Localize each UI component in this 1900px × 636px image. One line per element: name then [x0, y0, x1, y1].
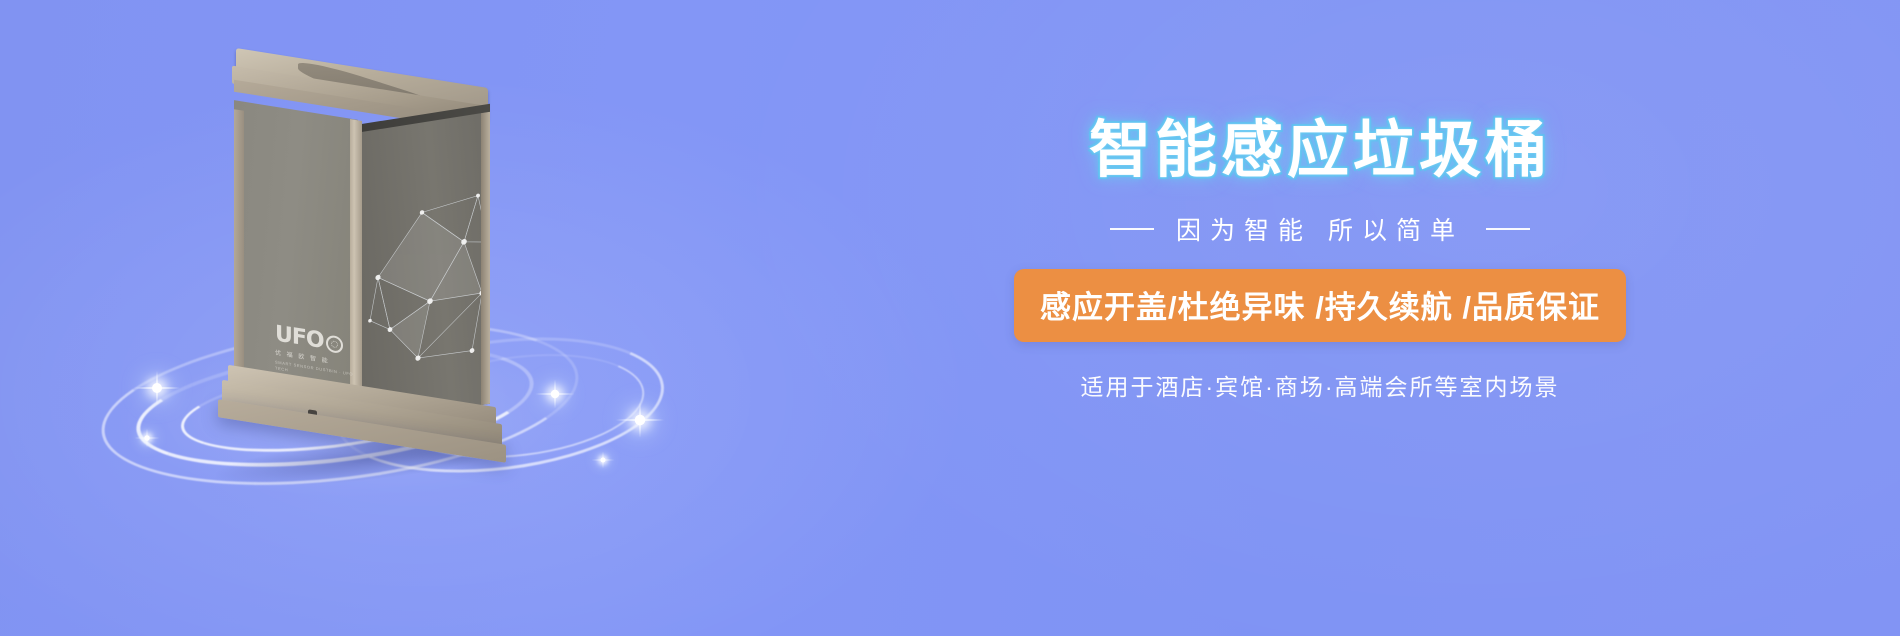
smart-trash-bin: UFO 优 福 欧 智 能 SMART SENSOR DUSTBIN · UFO… [230, 54, 510, 444]
banner-subtitle-row: 因为智能 所以简单 [880, 211, 1760, 247]
polygon-network-graphic [360, 142, 490, 393]
bin-left-edge-trim [234, 109, 244, 399]
banner-subtitle: 因为智能 所以简单 [1176, 211, 1464, 247]
dash-left-decoration [1110, 228, 1154, 230]
product-image: UFO 优 福 欧 智 能 SMART SENSOR DUSTBIN · UFO… [95, 40, 735, 540]
promo-banner: UFO 优 福 欧 智 能 SMART SENSOR DUSTBIN · UFO… [0, 0, 1900, 636]
dash-right-decoration [1486, 228, 1530, 230]
bin-front-right-glass-panel [360, 112, 490, 425]
feature-highlight-badge: 感应开盖/杜绝异味 /持久续航 /品质保证 [1014, 269, 1626, 342]
bin-right-edge-trim [481, 112, 490, 405]
brand-circle-icon [326, 334, 343, 354]
banner-copy-block: 智能感应垃圾桶 因为智能 所以简单 感应开盖/杜绝异味 /持久续航 /品质保证 … [880, 118, 1760, 402]
banner-title: 智能感应垃圾桶 [880, 118, 1760, 183]
usage-scenes-text: 适用于酒店·宾馆·商场·高端会所等室内场景 [880, 368, 1760, 402]
